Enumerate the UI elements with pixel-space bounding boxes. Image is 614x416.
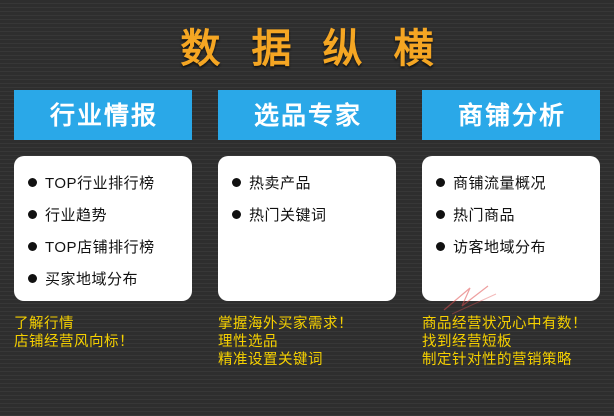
page-title: 数 据 纵 横 (0, 16, 614, 74)
list-item: 热门关键词 (232, 204, 386, 225)
column-product-selection: 选品专家 热卖产品 热门关键词 掌握海外买家需求！ 理性选品 精准设置关键词 (218, 90, 396, 369)
bullet-dot-icon (232, 178, 241, 187)
bullet-dot-icon (28, 178, 37, 187)
column-shop-analysis: 商铺分析 商铺流量概况 热门商品 访客地域分布 商品经营状况心中有数！ 找到经营… (422, 90, 600, 369)
list-item: 热卖产品 (232, 172, 386, 193)
bullet-label: 商铺流量概况 (453, 172, 546, 193)
bullet-label: 买家地域分布 (45, 268, 138, 289)
footer-line: 商品经营状况心中有数！ (422, 315, 600, 333)
bullet-label: 访客地域分布 (453, 236, 546, 257)
bullet-card-2: 商铺流量概况 热门商品 访客地域分布 (422, 156, 600, 301)
bullet-dot-icon (232, 210, 241, 219)
bullet-dot-icon (28, 210, 37, 219)
bullet-dot-icon (436, 178, 445, 187)
column-header-0: 行业情报 (14, 90, 192, 140)
list-item: 热门商品 (436, 204, 590, 225)
column-footer-2: 商品经营状况心中有数！ 找到经营短板 制定针对性的营销策略 (422, 315, 600, 369)
poster-canvas: 数 据 纵 横 行业情报 TOP行业排行榜 行业趋势 TOP店铺排行榜 买家地域… (0, 0, 614, 416)
bullet-label: 热门关键词 (249, 204, 327, 225)
footer-line: 店铺经营风向标！ (14, 333, 192, 351)
bullet-dot-icon (28, 274, 37, 283)
footer-line: 了解行情 (14, 315, 192, 333)
footer-line: 掌握海外买家需求！ (218, 315, 396, 333)
bullet-dot-icon (28, 242, 37, 251)
list-item: TOP行业排行榜 (28, 172, 182, 193)
bullet-card-0: TOP行业排行榜 行业趋势 TOP店铺排行榜 买家地域分布 (14, 156, 192, 301)
bullet-label: 行业趋势 (45, 204, 107, 225)
column-footer-1: 掌握海外买家需求！ 理性选品 精准设置关键词 (218, 315, 396, 369)
bullet-label: TOP店铺排行榜 (45, 236, 155, 257)
list-item: 商铺流量概况 (436, 172, 590, 193)
bullet-label: TOP行业排行榜 (45, 172, 155, 193)
list-item: TOP店铺排行榜 (28, 236, 182, 257)
bullet-card-1: 热卖产品 热门关键词 (218, 156, 396, 301)
list-item: 行业趋势 (28, 204, 182, 225)
bullet-dot-icon (436, 210, 445, 219)
list-item: 访客地域分布 (436, 236, 590, 257)
footer-line: 找到经营短板 (422, 333, 600, 351)
footer-line: 制定针对性的营销策略 (422, 351, 600, 369)
bullet-label: 热卖产品 (249, 172, 311, 193)
footer-line: 精准设置关键词 (218, 351, 396, 369)
column-industry-intel: 行业情报 TOP行业排行榜 行业趋势 TOP店铺排行榜 买家地域分布 了解行情 … (14, 90, 192, 351)
list-item: 买家地域分布 (28, 268, 182, 289)
column-header-1: 选品专家 (218, 90, 396, 140)
column-header-2: 商铺分析 (422, 90, 600, 140)
column-footer-0: 了解行情 店铺经营风向标！ (14, 315, 192, 351)
bullet-label: 热门商品 (453, 204, 515, 225)
footer-line: 理性选品 (218, 333, 396, 351)
bullet-dot-icon (436, 242, 445, 251)
